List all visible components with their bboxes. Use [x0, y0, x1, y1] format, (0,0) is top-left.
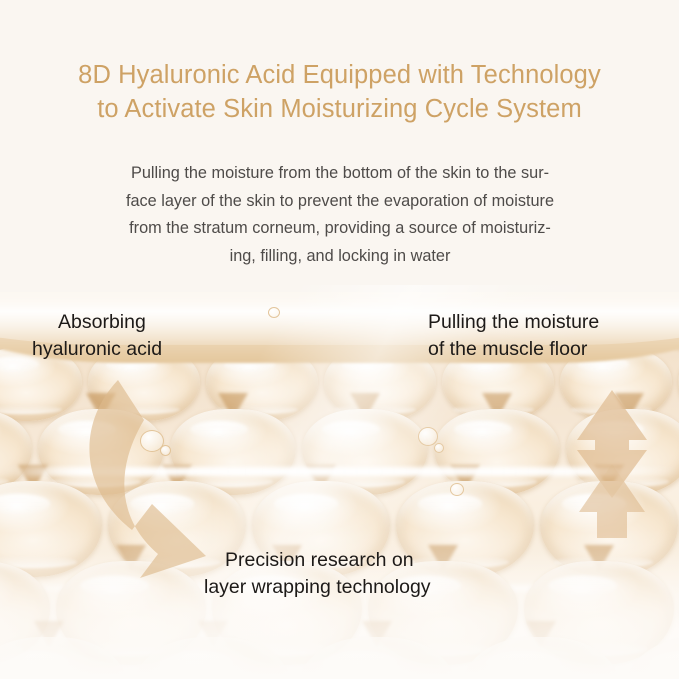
micro-bubble-2: [160, 445, 171, 456]
page-description-line-3: from the stratum corneum, providing a so…: [62, 215, 618, 243]
capsule: [134, 637, 292, 679]
label-precision-research: Precision research on layer wrapping tec…: [204, 547, 431, 601]
micro-bubble-4: [434, 443, 444, 453]
label-absorbing-line-2: hyaluronic acid: [32, 336, 162, 363]
micro-bubble-5: [268, 307, 280, 318]
capsule-row: [0, 637, 679, 679]
page-description-line-2: face layer of the skin to prevent the ev…: [62, 188, 618, 216]
label-pulling-moisture: Pulling the moisture of the muscle floor: [428, 309, 599, 363]
label-precision-line-1: Precision research on: [204, 547, 431, 574]
micro-bubble-6: [450, 483, 464, 496]
page-title-line-2: to Activate Skin Moisturizing Cycle Syst…: [16, 92, 663, 126]
header-text-block: 8D Hyaluronic Acid Equipped with Technol…: [0, 0, 679, 292]
capsule: [298, 637, 456, 679]
label-absorbing-line-1: Absorbing: [32, 309, 162, 336]
capsule: [0, 637, 128, 679]
capsule: [626, 637, 679, 679]
label-absorbing-hyaluronic-acid: Absorbing hyaluronic acid: [32, 309, 162, 363]
page-title: 8D Hyaluronic Acid Equipped with Technol…: [16, 58, 663, 126]
page-description-line-4: ing, filling, and locking in water: [62, 243, 618, 271]
label-precision-line-2: layer wrapping technology: [204, 574, 431, 601]
page-title-line-1: 8D Hyaluronic Acid Equipped with Technol…: [16, 58, 663, 92]
page-description-line-1: Pulling the moisture from the bottom of …: [62, 160, 618, 188]
capsule: [462, 637, 620, 679]
label-pulling-line-2: of the muscle floor: [428, 336, 599, 363]
product-infographic-page: 8D Hyaluronic Acid Equipped with Technol…: [0, 0, 679, 679]
label-pulling-line-1: Pulling the moisture: [428, 309, 599, 336]
page-description: Pulling the moisture from the bottom of …: [62, 160, 618, 270]
